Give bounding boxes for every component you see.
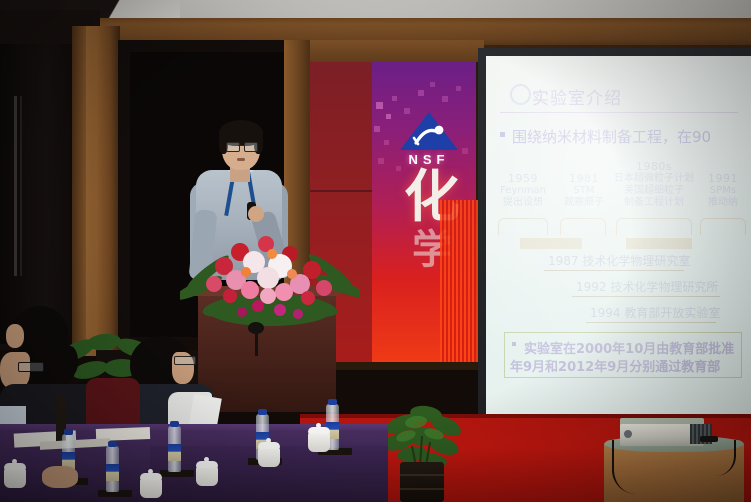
pillar-highlight bbox=[86, 26, 98, 356]
tea-cup-1-lid bbox=[140, 473, 162, 480]
tea-cup-4-knob bbox=[316, 423, 321, 428]
wall-rail bbox=[14, 96, 17, 276]
projection-screen: 实验室介绍 围绕纳米材料制备工程，在90 1959 Feynman 提出设想 1… bbox=[486, 56, 751, 440]
attendee-1-red-jacket bbox=[86, 378, 140, 430]
milestone-sep-2 bbox=[586, 322, 716, 323]
speaker-glasses-left-lens bbox=[226, 142, 240, 152]
milestone-sep-1 bbox=[572, 296, 720, 297]
left-wall-panel bbox=[0, 44, 78, 344]
tea-cup-0-knob bbox=[12, 459, 17, 464]
timeline-bar-0 bbox=[520, 238, 582, 249]
speaker-glasses-bridge bbox=[238, 145, 244, 146]
tea-cup-0 bbox=[4, 468, 26, 488]
timeline-item-3: 1991 SPMs 推动纳 bbox=[698, 172, 748, 209]
tea-cup-0-lid bbox=[4, 463, 26, 470]
tea-cup-3 bbox=[258, 447, 280, 467]
tea-cup-2-knob bbox=[204, 457, 209, 462]
tea-cup-2 bbox=[196, 466, 218, 486]
nsf-triangle-logo bbox=[398, 110, 460, 152]
milestone-sep-0 bbox=[544, 270, 684, 271]
water-bottle-3-cap bbox=[258, 409, 267, 415]
timeline-item-2: 1980s 日本超微粒子计划 美国超细粒子 制备工程计划 bbox=[612, 160, 696, 209]
attendee-3-glasses bbox=[18, 362, 44, 372]
tea-cup-4-lid bbox=[308, 427, 330, 434]
slide-footer-bullet bbox=[512, 342, 516, 346]
attendee-1-head bbox=[62, 346, 78, 376]
timeline-connector-2 bbox=[616, 218, 692, 235]
milestone-row-1: 1992 技术化学物理研究所 bbox=[576, 278, 718, 295]
tea-cup-3-lid bbox=[258, 442, 280, 449]
timeline-connector-0 bbox=[498, 218, 548, 235]
backdrop-panel-seam bbox=[310, 190, 372, 192]
conference-photo-scene: NSF 化 学 实验室介绍 围绕纳米材料制备工程，在90 1959 Feynma… bbox=[0, 0, 751, 502]
slide-title-circle-icon bbox=[510, 84, 531, 105]
milestone-row-2: 1994 教育部开放实验室 bbox=[590, 304, 720, 321]
projector-lens bbox=[624, 430, 632, 438]
projector-connector bbox=[700, 436, 718, 442]
tea-cup-3-knob bbox=[266, 438, 271, 443]
attendee-2-glasses bbox=[174, 356, 196, 365]
speaker-mouth bbox=[237, 158, 245, 161]
slide-footer-line-1: 年9月和2012年9月分别通过教育部 bbox=[510, 356, 720, 375]
plant-pot-ring-lower bbox=[400, 488, 444, 490]
milestone-row-0: 1987 技术化学物理研究室 bbox=[548, 252, 690, 269]
plant-pot bbox=[400, 462, 444, 502]
speaker-glasses-right-lens bbox=[244, 142, 258, 152]
timeline-item-1: 1981 STM 观察原子 bbox=[558, 172, 610, 209]
backdrop-stripe-edge bbox=[440, 200, 480, 362]
water-bottle-1-cap bbox=[108, 441, 117, 447]
tea-cup-4 bbox=[308, 432, 330, 452]
plant-pot-ring-upper bbox=[400, 474, 444, 476]
flower-arrangement bbox=[180, 226, 360, 336]
attendee-3-hand bbox=[42, 466, 78, 488]
wall-rail-shadow bbox=[20, 96, 22, 276]
tea-cup-2-lid bbox=[196, 461, 218, 468]
water-bottle-2-label bbox=[168, 444, 181, 461]
slide-title-divider bbox=[500, 112, 738, 113]
slide-footer-line-0: 实验室在2000年10月由教育部批准 bbox=[524, 338, 734, 357]
potted-plant-foliage bbox=[382, 402, 464, 470]
microphone-head bbox=[248, 322, 264, 334]
timeline-connector-1 bbox=[560, 218, 606, 235]
slide-title: 实验室介绍 bbox=[532, 84, 622, 109]
speaker-hand bbox=[248, 206, 264, 222]
timeline-bar-1 bbox=[626, 238, 692, 249]
timeline-connector-3 bbox=[700, 218, 746, 235]
tea-cup-1-knob bbox=[148, 469, 153, 474]
slide-bullet-text: 围绕纳米材料制备工程，在90 bbox=[512, 126, 711, 147]
water-bottle-2-cap bbox=[170, 421, 179, 427]
water-bottle-4-cap bbox=[328, 399, 337, 405]
tea-cup-1 bbox=[140, 478, 162, 498]
water-bottle-0-cap bbox=[64, 429, 73, 435]
water-bottle-1-label bbox=[106, 464, 119, 481]
slide-bullet-marker bbox=[500, 132, 505, 137]
timeline-item-0: 1959 Feynman 提出设想 bbox=[492, 172, 554, 209]
backdrop-frame-top bbox=[284, 40, 484, 62]
